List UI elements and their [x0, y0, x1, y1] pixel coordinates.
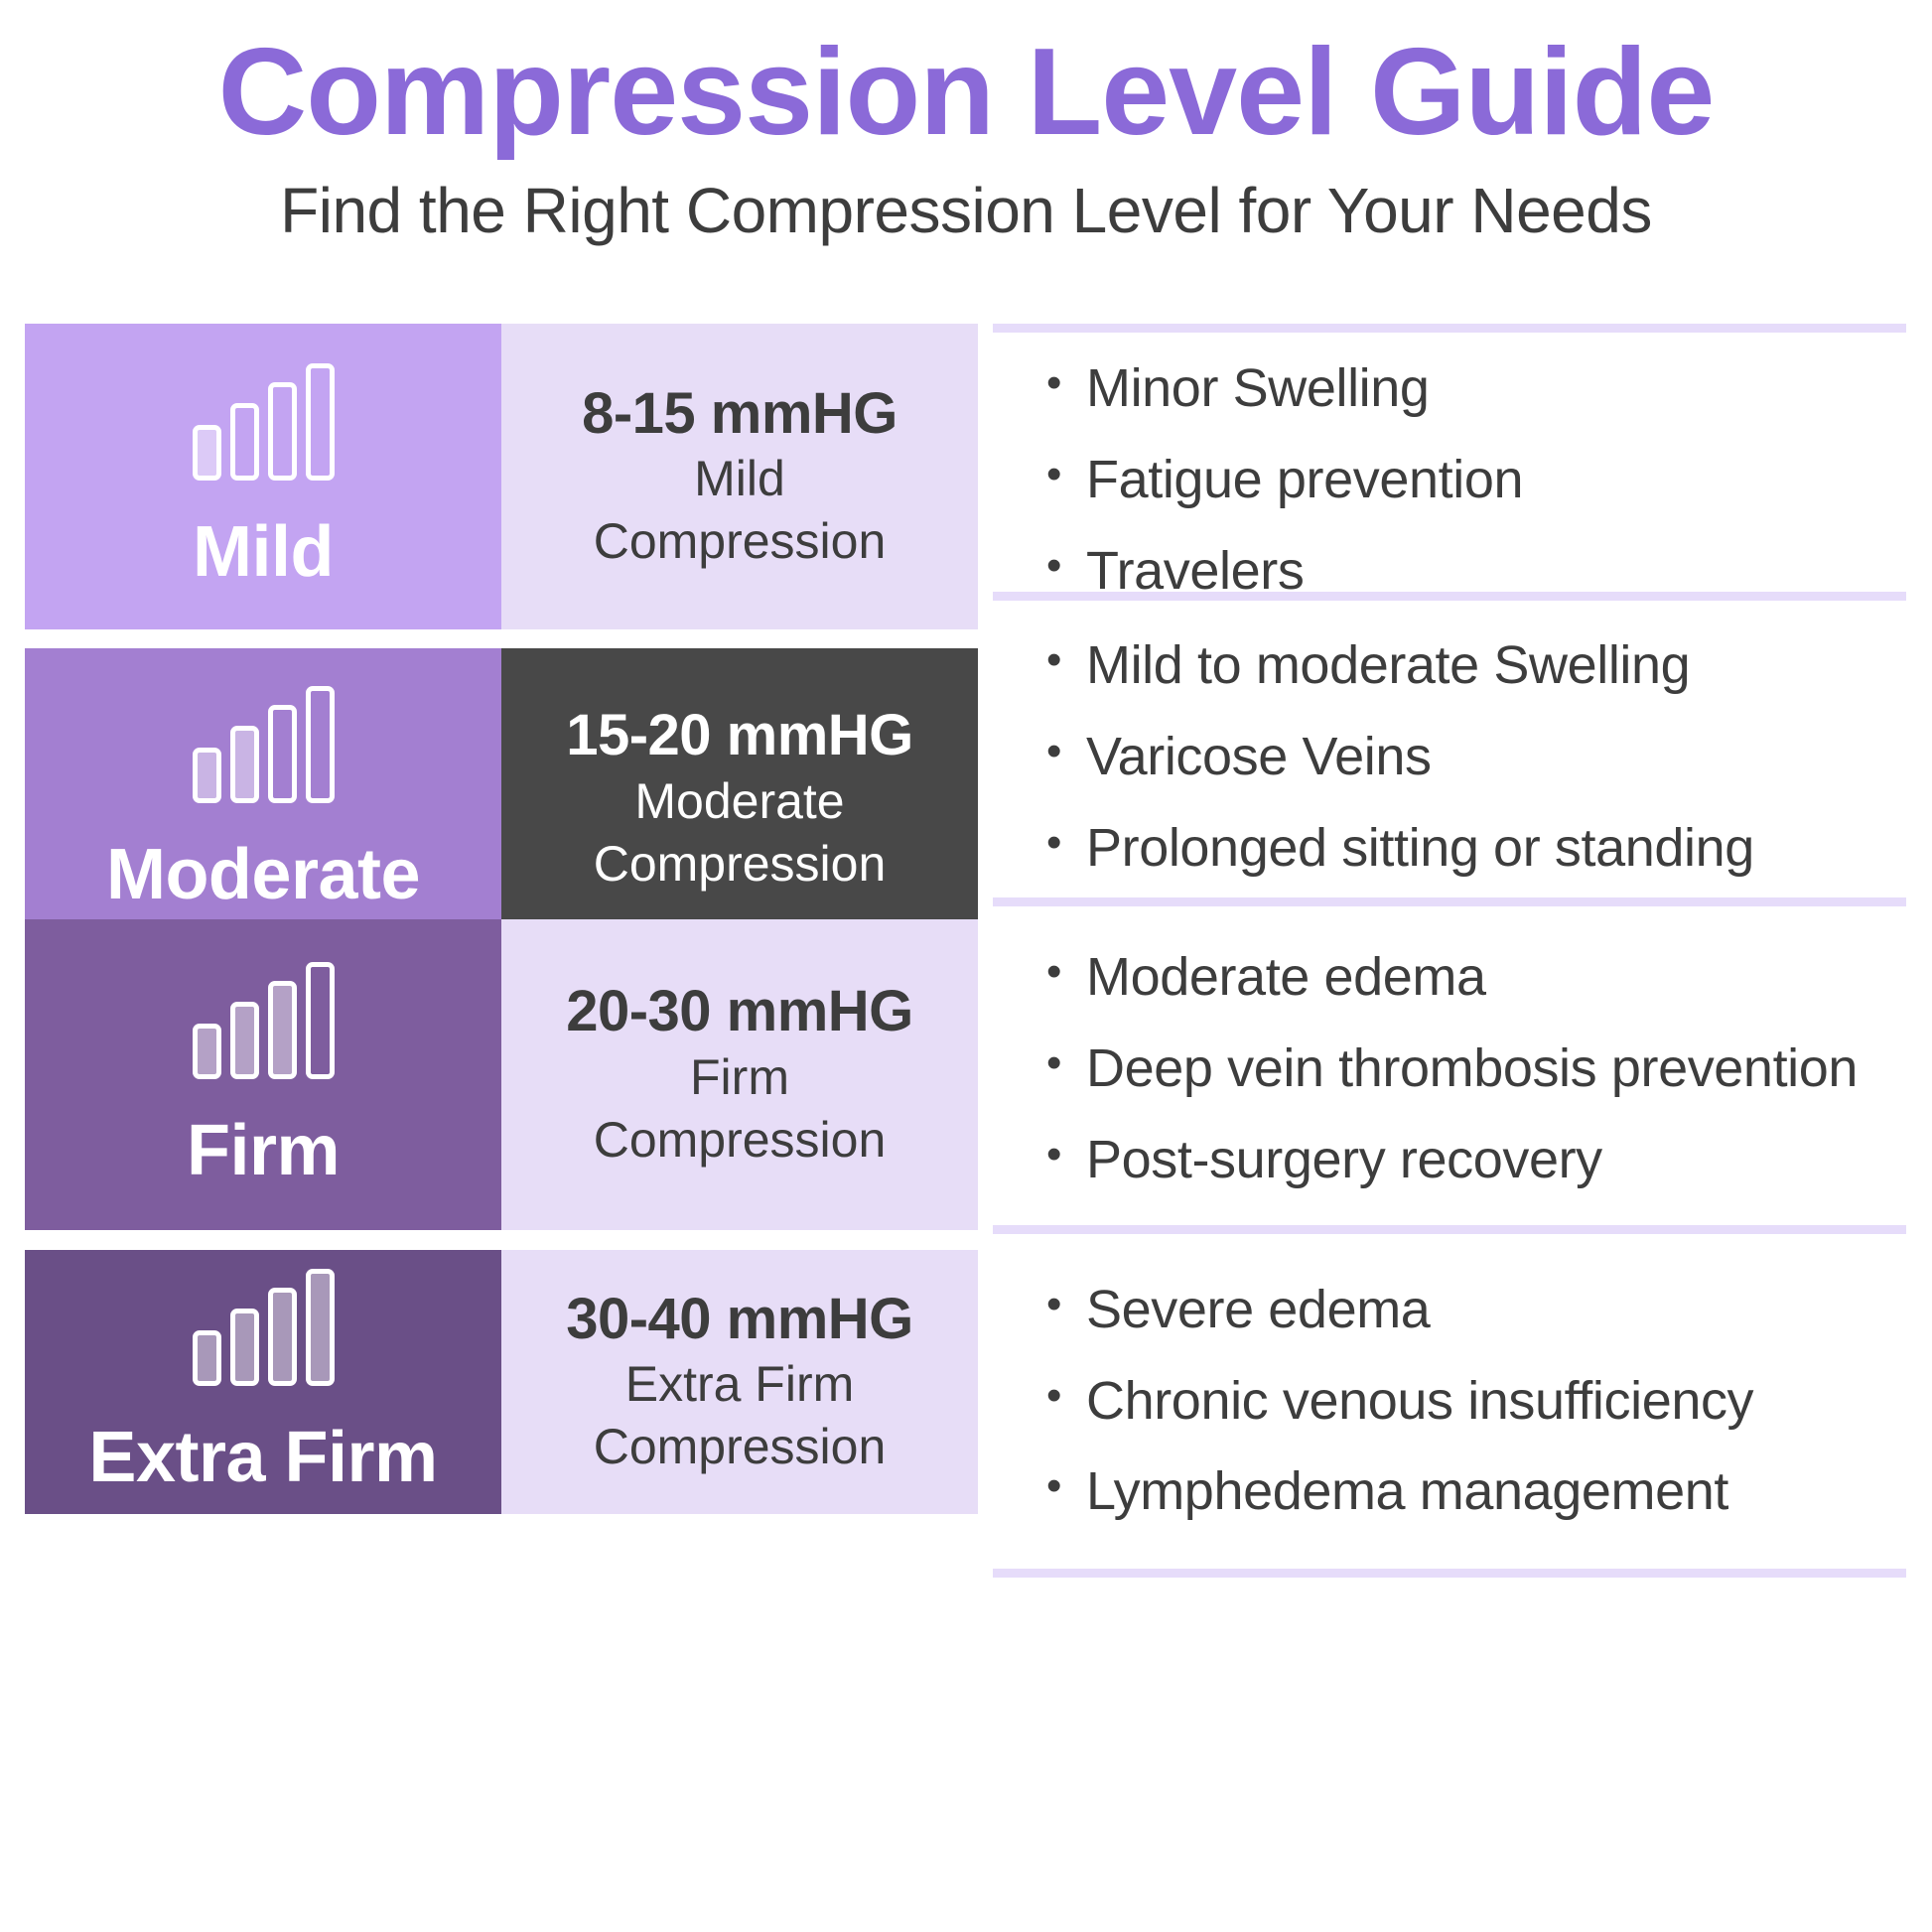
signal-bar-1 [193, 1330, 221, 1386]
signal-bar-3 [268, 705, 297, 803]
list-item: Prolonged sitting or standing [1046, 816, 1906, 882]
list-item: Moderate edema [1046, 945, 1906, 1011]
level-cell-mild: Mild [25, 324, 501, 629]
signal-bar-2 [230, 726, 259, 803]
level-label-firm: Firm [187, 1115, 340, 1186]
range-value-extra-firm: 30-40 mmHG [566, 1288, 913, 1352]
range-desc-line1-firm: Firm [690, 1048, 789, 1107]
uses-list-firm: Moderate edemaDeep vein thrombosis preve… [993, 945, 1906, 1193]
uses-cell-moderate: Mild to moderate SwellingVaricose VeinsP… [993, 592, 1906, 914]
signal-bars-icon [193, 363, 335, 481]
page-title: Compression Level Guide [0, 28, 1932, 158]
signal-bar-2 [230, 1309, 259, 1386]
compression-levels-grid: Mild8-15 mmHGMildCompressionMinor Swelli… [0, 324, 1932, 1912]
signal-bars-icon [193, 1269, 335, 1386]
uses-list-mild: Minor SwellingFatigue preventionTraveler… [993, 356, 1906, 605]
signal-bars-icon [193, 962, 335, 1079]
signal-bar-2 [230, 403, 259, 481]
level-label-moderate: Moderate [106, 839, 420, 910]
range-desc-line2-extra-firm: Compression [594, 1418, 887, 1476]
compression-row-mild[interactable]: Mild8-15 mmHGMildCompression [25, 324, 978, 629]
range-desc-line2-moderate: Compression [594, 835, 887, 894]
signal-bar-1 [193, 748, 221, 803]
list-item: Deep vein thrombosis prevention [1046, 1036, 1906, 1102]
signal-bar-3 [268, 1288, 297, 1386]
range-desc-line1-moderate: Moderate [634, 772, 844, 831]
range-cell-extra-firm: 30-40 mmHGExtra FirmCompression [501, 1250, 978, 1514]
signal-bar-4 [306, 1269, 335, 1386]
range-desc-line2-firm: Compression [594, 1111, 887, 1170]
range-desc-line2-mild: Compression [594, 512, 887, 571]
signal-bars-icon [193, 686, 335, 803]
signal-bar-3 [268, 981, 297, 1079]
signal-bar-1 [193, 425, 221, 481]
signal-bar-2 [230, 1002, 259, 1079]
range-desc-line1-extra-firm: Extra Firm [625, 1355, 855, 1414]
compression-row-extra-firm[interactable]: Extra Firm30-40 mmHGExtra FirmCompressio… [25, 1250, 978, 1514]
signal-bar-1 [193, 1024, 221, 1079]
signal-bar-4 [306, 686, 335, 803]
range-cell-firm: 20-30 mmHGFirmCompression [501, 919, 978, 1230]
list-item: Lymphedema management [1046, 1459, 1906, 1525]
list-item: Minor Swelling [1046, 356, 1906, 422]
range-desc-line1-mild: Mild [694, 450, 785, 508]
level-label-extra-firm: Extra Firm [88, 1422, 437, 1493]
range-value-moderate: 15-20 mmHG [566, 704, 913, 768]
uses-list-moderate: Mild to moderate SwellingVaricose VeinsP… [993, 633, 1906, 882]
uses-cell-firm: Moderate edemaDeep vein thrombosis preve… [993, 897, 1906, 1232]
range-cell-mild: 8-15 mmHGMildCompression [501, 324, 978, 629]
compression-row-moderate[interactable]: Moderate15-20 mmHGModerateCompression [25, 648, 978, 949]
range-value-mild: 8-15 mmHG [582, 382, 897, 447]
signal-bar-4 [306, 962, 335, 1079]
page-subtitle: Find the Right Compression Level for You… [0, 176, 1932, 245]
level-cell-moderate: Moderate [25, 648, 501, 949]
level-cell-firm: Firm [25, 919, 501, 1230]
signal-bar-3 [268, 382, 297, 481]
header: Compression Level Guide Find the Right C… [0, 0, 1932, 246]
list-item: Mild to moderate Swelling [1046, 633, 1906, 699]
list-item: Varicose Veins [1046, 725, 1906, 790]
uses-cell-extra-firm: Severe edemaChronic venous insufficiency… [993, 1225, 1906, 1578]
range-value-firm: 20-30 mmHG [566, 980, 913, 1044]
level-cell-extra-firm: Extra Firm [25, 1250, 501, 1514]
uses-cell-mild: Minor SwellingFatigue preventionTraveler… [993, 324, 1906, 628]
compression-level-guide-page: Compression Level Guide Find the Right C… [0, 0, 1932, 1932]
uses-list-extra-firm: Severe edemaChronic venous insufficiency… [993, 1278, 1906, 1526]
signal-bar-4 [306, 363, 335, 481]
list-item: Fatigue prevention [1046, 448, 1906, 513]
range-cell-moderate: 15-20 mmHGModerateCompression [501, 648, 978, 949]
compression-row-firm[interactable]: Firm20-30 mmHGFirmCompression [25, 919, 978, 1230]
list-item: Post-surgery recovery [1046, 1128, 1906, 1193]
level-label-mild: Mild [193, 516, 334, 588]
list-item: Severe edema [1046, 1278, 1906, 1343]
list-item: Chronic venous insufficiency [1046, 1369, 1906, 1435]
